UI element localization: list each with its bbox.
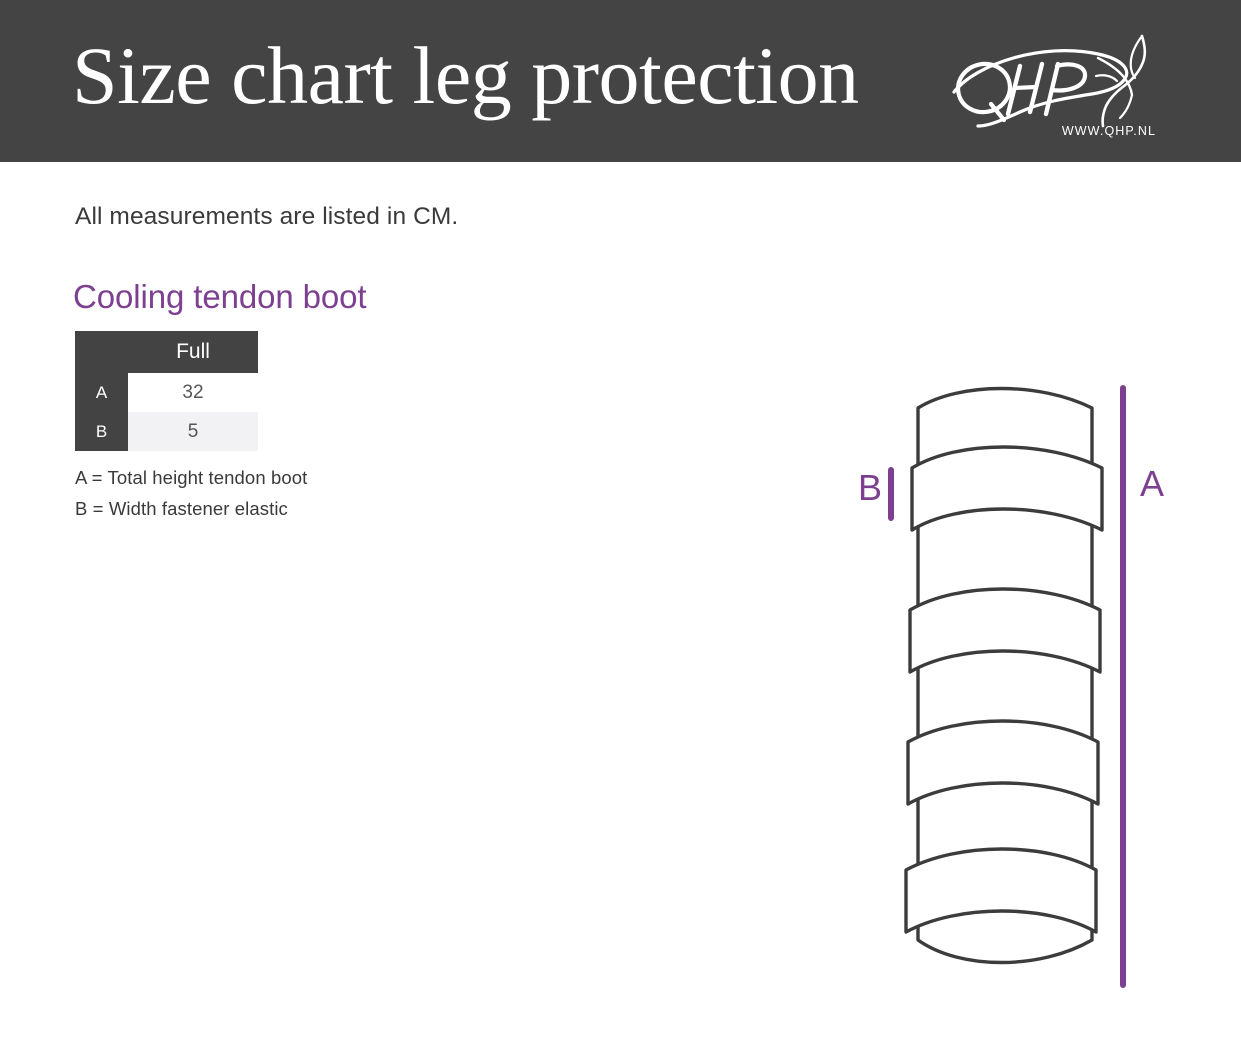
table-row: B 5 xyxy=(75,412,258,451)
cell-b-full: 5 xyxy=(128,412,258,451)
legend-line-a: A = Total height tendon boot xyxy=(75,462,307,493)
column-header-full: Full xyxy=(128,331,258,373)
page-title: Size chart leg protection xyxy=(72,28,859,124)
table-header-row: Full xyxy=(75,331,258,373)
row-label-b: B xyxy=(75,412,128,451)
size-table: Full A 32 B 5 xyxy=(75,331,258,451)
size-chart-page: Size chart leg protection xyxy=(0,0,1241,1063)
product-heading: Cooling tendon boot xyxy=(73,276,367,318)
legend-line-b: B = Width fastener elastic xyxy=(75,493,307,524)
qhp-logo: WWW.QHP.NL xyxy=(946,30,1158,142)
header-bar: Size chart leg protection xyxy=(0,0,1241,162)
legend-notes: A = Total height tendon boot B = Width f… xyxy=(75,462,307,524)
boot-outline-group xyxy=(906,389,1102,963)
measurement-units-note: All measurements are listed in CM. xyxy=(75,200,458,234)
table-corner-cell xyxy=(75,331,128,373)
row-label-a: A xyxy=(75,373,128,412)
cell-a-full: 32 xyxy=(128,373,258,412)
dimension-label-b: B xyxy=(858,470,882,506)
tendon-boot-diagram: B A xyxy=(840,370,1200,1010)
dimension-label-a: A xyxy=(1140,466,1164,502)
logo-url-text: WWW.QHP.NL xyxy=(1062,124,1156,138)
table-row: A 32 xyxy=(75,373,258,412)
